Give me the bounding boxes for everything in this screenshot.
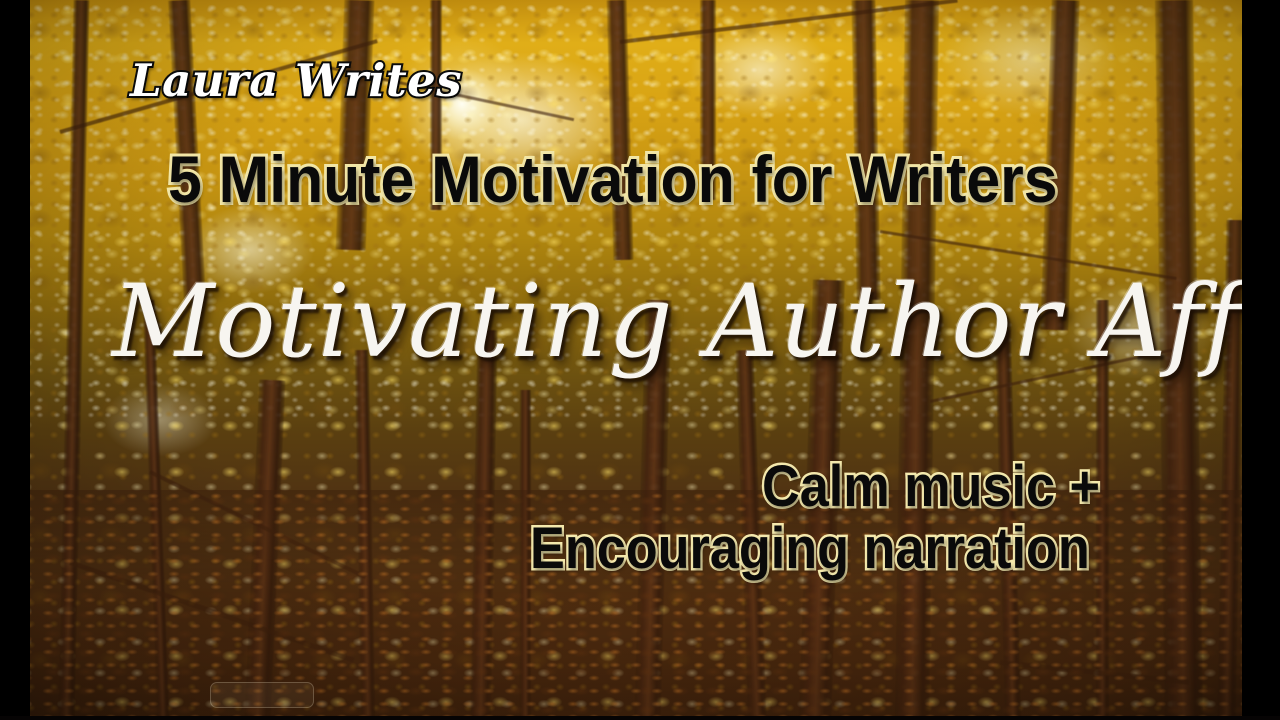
letterbox-bar-right (1242, 0, 1280, 720)
letterbox-bar-bottom (0, 716, 1280, 720)
channel-brand-label: Laura Writes (130, 58, 462, 103)
letterbox-bar-left (0, 0, 30, 720)
subtitle-line-1: Calm music + (762, 458, 1100, 516)
subtitle-line-2: Encouraging narration (530, 520, 1090, 578)
video-script-title: Motivating Author Affirmations (112, 272, 1280, 372)
text-overlay: Laura Writes 5 Minute Motivation for Wri… (0, 0, 1280, 720)
video-headline: 5 Minute Motivation for Writers (168, 146, 1057, 212)
translucent-plate-artifact (210, 682, 314, 708)
video-frame: Laura Writes 5 Minute Motivation for Wri… (0, 0, 1280, 720)
